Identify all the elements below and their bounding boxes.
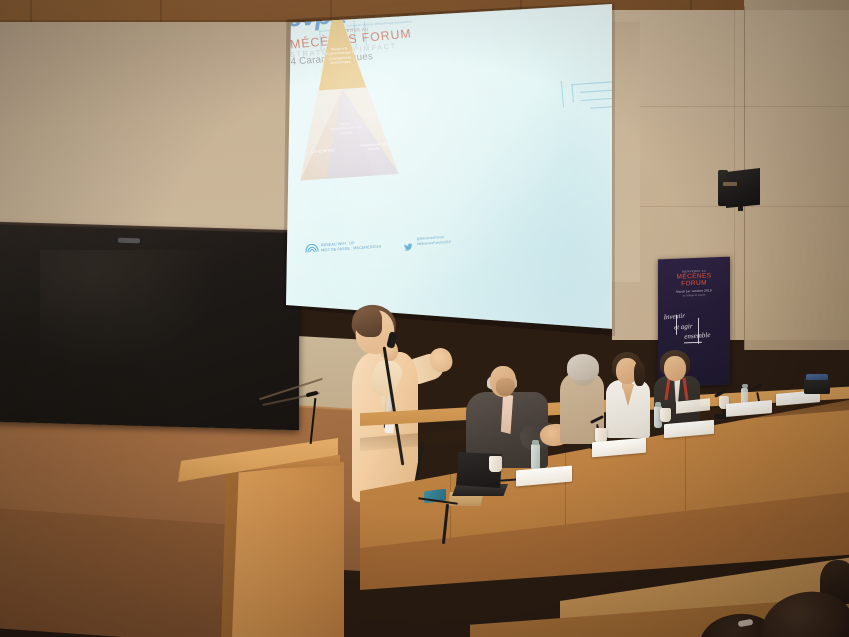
wifi-icon (305, 245, 317, 254)
lectern-body (232, 462, 344, 637)
panelist-2-hair (567, 354, 599, 380)
panelist-1-face (496, 378, 515, 396)
blackboard-glare (40, 250, 220, 370)
twitter-hashtag-text: #MecenesForum2019 (417, 240, 451, 247)
panelist-4-head (664, 356, 686, 381)
table-equipment-box (804, 378, 830, 394)
banner-sub-detail: au Collège de France (668, 293, 720, 298)
twitter-icon (403, 239, 413, 248)
paper-cup-3 (660, 408, 671, 422)
pyramid-middle-label: Soutien organisationnel sur mesure (327, 121, 365, 137)
banner-title: MÉCÈNES FORUM (668, 272, 720, 288)
table-equipment-box-lid (806, 374, 828, 380)
conference-photo: evpa european venture philanthropy assoc… (0, 0, 849, 637)
water-bottle-3-cap (742, 384, 748, 388)
banner-handwriting-line-3: ensemble (684, 329, 726, 343)
pyramid-diagram: Mesure & Apprentissage / Changement Syst… (291, 61, 404, 244)
water-bottle-2-cap (655, 402, 661, 407)
paper-cup-1 (489, 456, 502, 472)
pyramid-apex-label: Mesure & Apprentissage / Changement Syst… (318, 46, 361, 67)
water-bottle-1-cap (532, 440, 539, 445)
banner-logo: BIENVENUE AU MÉCÈNES FORUM Mardi 1er oct… (668, 269, 720, 298)
banner-handwriting: Investir et agir ensemble (663, 308, 726, 344)
table-microphone-3-head (750, 383, 762, 392)
wall-speaker-icon (718, 168, 768, 212)
water-bottle-1 (531, 444, 540, 470)
speaker-hair-front (354, 307, 382, 337)
slide-content: evpa european venture philanthropy assoc… (286, 4, 612, 346)
panelist-3-hair-side (634, 362, 645, 386)
blackboard-clip-icon (118, 238, 140, 244)
